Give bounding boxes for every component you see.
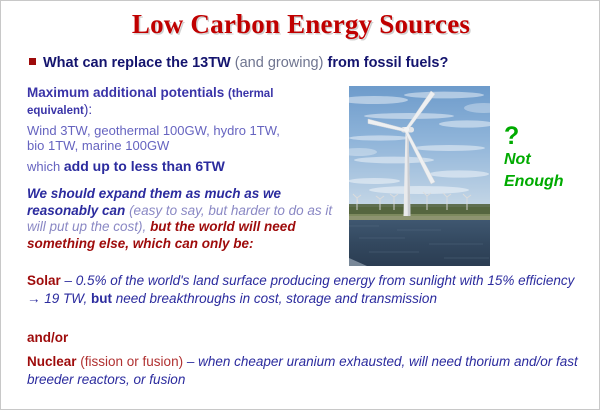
solar-body-b: need breakthroughs in cost, storage and … <box>112 291 437 306</box>
solar-but-emphasis: but <box>91 291 112 306</box>
nuclear-paragraph: Nuclear (fission or fusion) – when cheap… <box>27 353 579 388</box>
nuclear-parenthetical: (fission or fusion) <box>77 354 184 369</box>
solar-paragraph: Solar – 0.5% of the world's land surface… <box>27 272 579 307</box>
not-enough-callout: ? Not Enough <box>504 123 596 193</box>
bullet-text-part1: What can replace the 13TW <box>43 55 231 71</box>
expand-paragraph: We should expand them as much as we reas… <box>27 186 337 252</box>
headline-bullet-line: What can replace the 13TW (and growing) … <box>29 54 589 72</box>
potentials-heading-main: Maximum additional potentials <box>27 85 228 100</box>
potentials-sum-prefix: which <box>27 159 64 174</box>
potentials-sum-bold: add up to less than 6TW <box>64 158 225 174</box>
question-mark-label: ? <box>504 123 596 149</box>
potentials-list-line-2: bio 1TW, marine 100GW <box>27 138 337 153</box>
potentials-heading: Maximum additional potentials (thermal e… <box>27 85 337 119</box>
callout-line-1: Not <box>504 149 596 171</box>
callout-line-2: Enough <box>504 171 596 193</box>
left-text-column: Maximum additional potentials (thermal e… <box>27 85 337 252</box>
page-title: Low Carbon Energy Sources <box>1 9 600 40</box>
square-bullet-icon <box>29 58 36 65</box>
andor-connector: and/or <box>27 330 68 345</box>
wind-turbine-photo <box>349 86 490 266</box>
potentials-sum-line: which add up to less than 6TW <box>27 158 337 175</box>
bullet-text-part2: (and growing) <box>235 55 324 71</box>
slide-canvas: Low Carbon Energy Sources What can repla… <box>0 0 600 410</box>
nuclear-lead-label: Nuclear <box>27 354 77 369</box>
solar-lead-label: Solar <box>27 273 61 288</box>
potentials-list-line-1: Wind 3TW, geothermal 100GW, hydro 1TW, <box>27 123 337 138</box>
potentials-heading-tail: ): <box>84 102 92 117</box>
bullet-text-part3: from fossil fuels? <box>327 55 448 71</box>
